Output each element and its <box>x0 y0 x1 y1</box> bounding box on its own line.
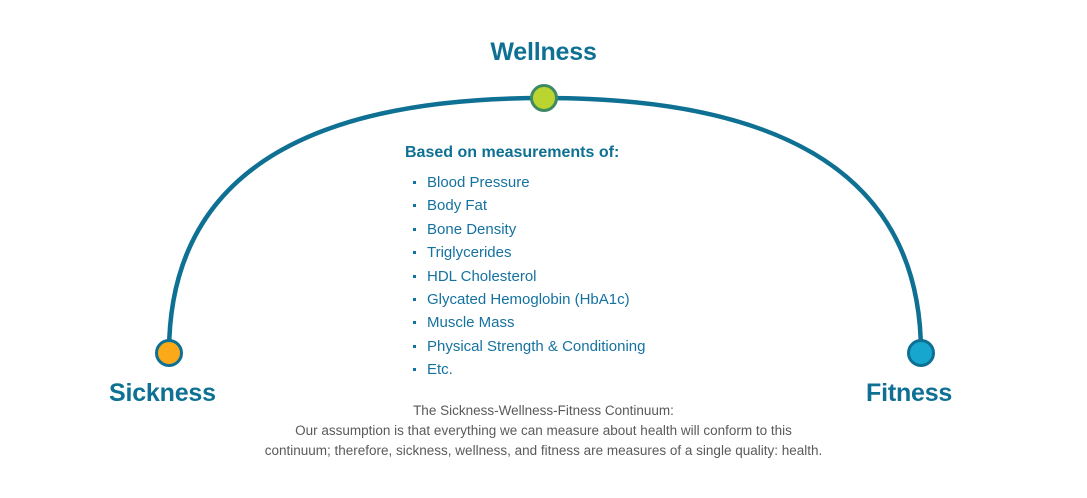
list-item-label: Bone Density <box>427 221 516 238</box>
bullet-icon <box>413 321 416 324</box>
list-item: Physical Strength & Conditioning <box>427 335 725 358</box>
caption-line-2: Our assumption is that everything we can… <box>0 421 1087 441</box>
caption-line-3: continuum; therefore, sickness, wellness… <box>0 441 1087 461</box>
measurements-panel: Based on measurements of: Blood Pressure… <box>405 144 725 382</box>
list-item-label: Muscle Mass <box>427 314 515 331</box>
list-item-label: Glycated Hemoglobin (HbA1c) <box>427 291 630 308</box>
list-item-label: Physical Strength & Conditioning <box>427 338 645 355</box>
bullet-icon <box>413 181 416 184</box>
diagram-caption: The Sickness-Wellness-Fitness Continuum:… <box>0 401 1087 461</box>
list-item: Triglycerides <box>427 241 725 264</box>
continuum-diagram: Wellness Sickness Fitness Based on measu… <box>0 0 1087 498</box>
caption-line-1: The Sickness-Wellness-Fitness Continuum: <box>0 401 1087 421</box>
list-item-label: HDL Cholesterol <box>427 268 537 285</box>
sickness-node <box>155 339 183 367</box>
list-item-label: Body Fat <box>427 197 487 214</box>
bullet-icon <box>413 228 416 231</box>
bullet-icon <box>413 298 416 301</box>
bullet-icon <box>413 204 416 207</box>
list-item: Bone Density <box>427 218 725 241</box>
list-item-label: Triglycerides <box>427 244 511 261</box>
list-item: Blood Pressure <box>427 171 725 194</box>
fitness-node <box>907 339 935 367</box>
list-item: Body Fat <box>427 194 725 217</box>
list-item-label: Etc. <box>427 361 453 378</box>
wellness-label: Wellness <box>0 38 1087 67</box>
list-item: Etc. <box>427 358 725 381</box>
bullet-icon <box>413 275 416 278</box>
bullet-icon <box>413 368 416 371</box>
list-item: Muscle Mass <box>427 311 725 334</box>
wellness-node <box>530 84 558 112</box>
list-item-label: Blood Pressure <box>427 174 530 191</box>
list-item: Glycated Hemoglobin (HbA1c) <box>427 288 725 311</box>
measurements-list: Blood Pressure Body Fat Bone Density Tri… <box>405 171 725 382</box>
list-item: HDL Cholesterol <box>427 265 725 288</box>
bullet-icon <box>413 251 416 254</box>
bullet-icon <box>413 345 416 348</box>
measurements-heading: Based on measurements of: <box>405 144 725 162</box>
